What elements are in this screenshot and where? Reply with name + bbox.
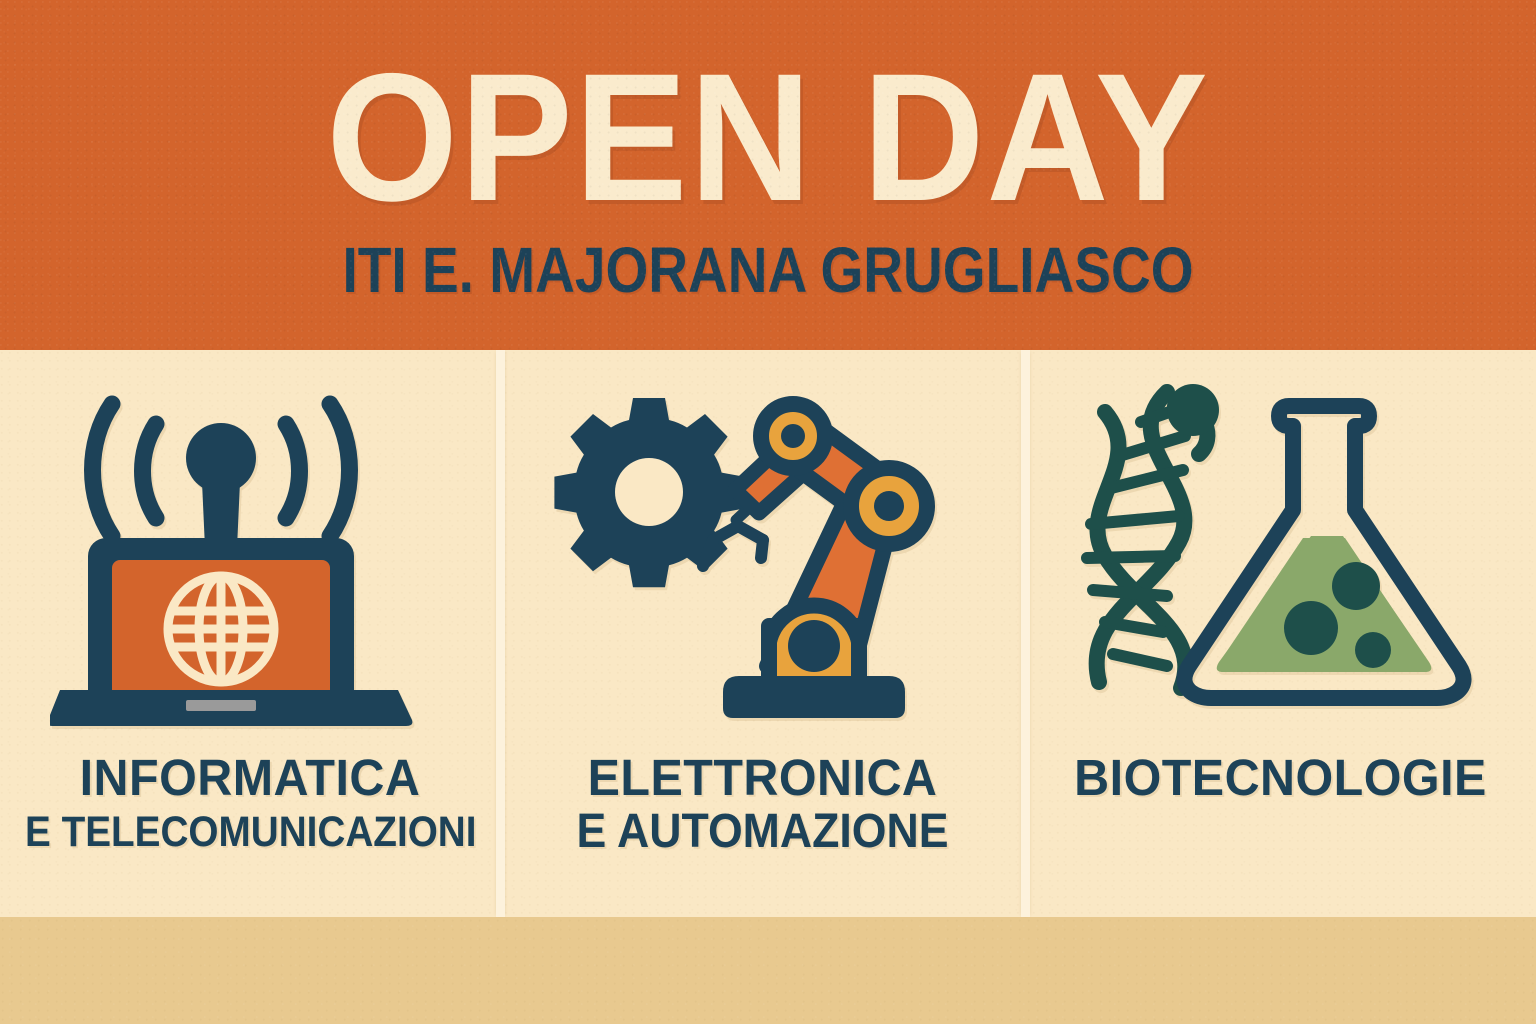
bubble-icon xyxy=(1284,601,1338,655)
footer-strip xyxy=(0,917,1536,1024)
specialization-title: INFORMATICA xyxy=(13,750,488,806)
poster-root: OPEN DAY ITI E. MAJORANA GRUGLIASCO xyxy=(0,0,1536,1024)
robotic-arm-gear-icon xyxy=(500,350,1025,750)
specialization-card-biotecnologie[interactable]: BIOTECNOLOGIE xyxy=(1025,350,1536,917)
dna-node-icon xyxy=(1167,384,1219,436)
gear-icon xyxy=(554,398,743,587)
wifi-antenna-icon xyxy=(93,404,350,548)
bubble-icon xyxy=(1332,562,1380,610)
specialization-title: BIOTECNOLOGIE xyxy=(1038,750,1523,806)
specialization-card-informatica[interactable]: INFORMATICA E TELECOMUNICAZIONI xyxy=(0,350,500,917)
dna-helix-icon xyxy=(1087,392,1207,688)
specialization-subtitle: E AUTOMAZIONE xyxy=(518,806,1006,858)
robot-base-icon xyxy=(723,676,905,718)
bubble-icon xyxy=(1355,632,1391,668)
specialization-labels: INFORMATICA E TELECOMUNICAZIONI xyxy=(0,750,500,858)
globe-icon xyxy=(168,576,274,682)
specialization-labels: ELETTRONICA E AUTOMAZIONE xyxy=(500,750,1025,858)
specialization-subtitle: E TELECOMUNICAZIONI xyxy=(25,806,475,858)
specialization-card-elettronica[interactable]: ELETTRONICA E AUTOMAZIONE xyxy=(500,350,1025,917)
dna-flask-icon xyxy=(1025,350,1536,750)
erlenmeyer-flask-icon xyxy=(1184,406,1463,698)
laptop-globe-antenna-icon xyxy=(0,350,500,750)
column-divider xyxy=(496,350,505,917)
page-title: OPEN DAY xyxy=(54,46,1482,228)
trackpad-icon xyxy=(186,700,256,711)
specializations-row: INFORMATICA E TELECOMUNICAZIONI xyxy=(0,350,1536,917)
specialization-labels: BIOTECNOLOGIE xyxy=(1025,750,1536,806)
school-name-subtitle: ITI E. MAJORANA GRUGLIASCO xyxy=(108,238,1429,302)
laptop-base-icon xyxy=(50,690,412,726)
specialization-title: ELETTRONICA xyxy=(513,750,1012,806)
header-banner: OPEN DAY ITI E. MAJORANA GRUGLIASCO xyxy=(0,0,1536,350)
column-divider xyxy=(1021,350,1030,917)
